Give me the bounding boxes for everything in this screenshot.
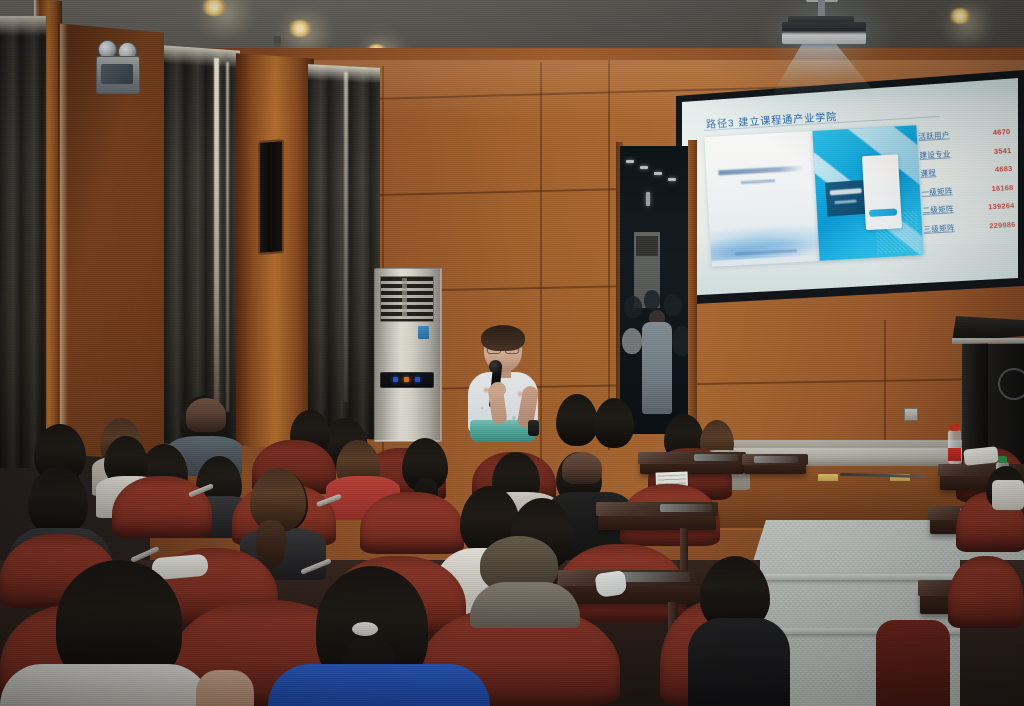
- projector-body: [782, 22, 866, 44]
- lecture-hall-photo: 路径3 建立课程通产业学院: [0, 0, 1024, 706]
- audience-head: [28, 466, 88, 536]
- stage-tape-marker: [818, 474, 838, 481]
- stat-value: 4670: [993, 127, 1011, 137]
- audience-body: [470, 582, 580, 628]
- emergency-light-face: [101, 64, 133, 84]
- wall-speaker: [258, 139, 284, 255]
- air-conditioner-shading: [374, 268, 440, 440]
- stat-value: 4683: [995, 164, 1013, 174]
- curtain-panel: [0, 16, 46, 468]
- audience-body-white-top: [0, 664, 210, 706]
- desk-gloss: [620, 572, 690, 582]
- stat-value: 139264: [988, 201, 1015, 211]
- app-white-card: [862, 154, 902, 230]
- stat-row: 二级矩阵 139264: [922, 200, 1014, 216]
- app-logo-subtext: [834, 200, 856, 205]
- projection-screen: 路径3 建立课程通产业学院: [682, 78, 1018, 296]
- stat-label: 活跃用户: [918, 129, 950, 142]
- window-light-slit: [214, 58, 219, 428]
- bottle-cap: [950, 424, 959, 431]
- downlight-halo: [936, 0, 998, 46]
- slide-content: 路径3 建立课程通产业学院: [682, 78, 1018, 296]
- wall-outlet-plate: [904, 408, 918, 421]
- stat-label: 二级矩阵: [922, 203, 954, 216]
- bottle-cap: [998, 456, 1007, 463]
- desk-gloss: [694, 454, 738, 461]
- microphone-head: [489, 360, 502, 373]
- curtain-top-glow: [0, 16, 46, 36]
- doorway-opening: [620, 146, 692, 434]
- audience-head-bald: [186, 398, 226, 432]
- presenter-clicker: [528, 420, 539, 436]
- window-light-slit: [226, 62, 229, 412]
- stat-label: 一级矩阵: [921, 185, 953, 198]
- far-room-light: [668, 178, 676, 181]
- ceiling-downlight-6: [948, 8, 972, 24]
- emergency-light: [96, 40, 138, 92]
- audience-head: [556, 394, 598, 446]
- bottle-label: [948, 448, 961, 461]
- presenter: [462, 328, 544, 454]
- door-jamb: [688, 140, 697, 440]
- stat-label: 课程: [920, 167, 936, 179]
- stat-value: 3541: [994, 145, 1012, 155]
- sprinkler-head: [274, 36, 281, 45]
- audience-arm: [196, 670, 254, 706]
- desk-gloss: [660, 504, 712, 512]
- auditorium-seat: [948, 556, 1024, 628]
- far-room-person: [624, 296, 642, 318]
- audience-body-black-shirt: [688, 618, 790, 706]
- doc-cover-subtitle-text: [741, 179, 775, 184]
- far-room-ac-grille: [636, 236, 658, 256]
- auditorium-seat: [876, 620, 950, 706]
- far-room-person: [622, 328, 642, 354]
- stat-value: 16168: [991, 182, 1013, 192]
- lectern-top-edge: [952, 338, 1024, 344]
- stat-row: 三级矩阵 229986: [923, 218, 1015, 234]
- slide-stats-list: 活跃用户 4670 建设专业 3541 课程 4683 一级矩阵 16168 二…: [918, 126, 1016, 242]
- stat-value: 229986: [989, 219, 1016, 229]
- stat-label: 建设专业: [919, 148, 951, 161]
- far-room-standing-person: [642, 322, 672, 414]
- audience-white-shirt: [992, 480, 1024, 510]
- auditorium-seat: [112, 476, 212, 538]
- doc-cover-title-text: [718, 166, 804, 176]
- window-light-slit: [344, 72, 348, 402]
- far-room-light: [654, 172, 662, 175]
- stat-row: 活跃用户 4670: [918, 126, 1010, 142]
- app-cta-button: [869, 208, 897, 217]
- ceiling-downlight-2: [287, 20, 313, 37]
- lectern-emblem: [998, 368, 1024, 400]
- audience-head-bald: [562, 452, 602, 484]
- audience-head: [594, 398, 634, 448]
- presenter-hand: [490, 382, 506, 397]
- slide-document-cover-image: [704, 131, 819, 267]
- stat-row: 建设专业 3541: [919, 144, 1011, 160]
- stat-row: 课程 4683: [920, 163, 1012, 179]
- desk-gloss: [754, 456, 798, 463]
- ceiling-projector: [782, 8, 866, 48]
- far-room-person: [644, 290, 660, 310]
- audience-ponytail: [256, 520, 286, 568]
- slide-title: 路径3 建立课程通产业学院: [706, 108, 838, 131]
- far-room-light: [640, 166, 648, 169]
- auditorium-seat: [360, 492, 464, 554]
- hair-scrunchie: [352, 622, 378, 636]
- far-room-person: [664, 294, 682, 316]
- stat-label: 三级矩阵: [923, 222, 955, 235]
- wall-edge-highlight: [60, 24, 68, 455]
- far-room-light: [626, 160, 634, 163]
- app-logo-text: [830, 188, 862, 195]
- presenter-glasses: [487, 344, 519, 352]
- slide-app-screenshot: [812, 125, 923, 261]
- audience-body-blue-top: [268, 664, 490, 706]
- far-room-light: [646, 192, 650, 206]
- air-conditioner: [374, 268, 440, 440]
- stat-row: 一级矩阵 16168: [921, 181, 1013, 197]
